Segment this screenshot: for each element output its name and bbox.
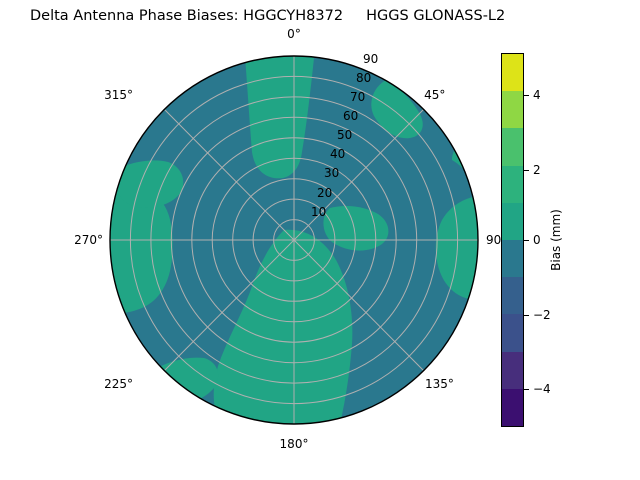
radial-label-10: 10: [311, 205, 326, 219]
radial-label-70: 70: [350, 90, 365, 104]
figure-canvas: Delta Antenna Phase Biases: HGGCYH8372 H…: [0, 0, 640, 480]
angle-label-225: 225°: [104, 377, 133, 391]
colorbar-band-4: [502, 240, 523, 277]
colorbar-band-3: [502, 277, 523, 314]
colorbar-band-5: [502, 203, 523, 240]
colorbar-tick-mark-neg4: [524, 389, 529, 390]
colorbar-tick-mark-4: [524, 95, 529, 96]
radial-label-50: 50: [337, 128, 352, 142]
colorbar-band-6: [502, 166, 523, 203]
radial-label-40: 40: [330, 147, 345, 161]
colorbar[interactable]: 4 2 0 −2 −4: [501, 53, 524, 427]
colorbar-tick-label-neg2: −2: [533, 308, 551, 322]
angle-label-135: 135°: [425, 377, 454, 391]
angle-label-0: 0°: [287, 27, 301, 41]
colorbar-band-9: [502, 54, 523, 91]
colorbar-tick-mark-0: [524, 240, 529, 241]
angle-label-180: 180°: [280, 437, 309, 451]
colorbar-tick-label-4: 4: [533, 88, 541, 102]
radial-label-60: 60: [343, 109, 358, 123]
angle-label-90: 90: [486, 233, 501, 247]
angle-label-270: 270°: [74, 233, 103, 247]
colorbar-band-1: [502, 352, 523, 389]
radial-label-80: 80: [356, 71, 371, 85]
colorbar-band-2: [502, 314, 523, 351]
colorbar-band-8: [502, 91, 523, 128]
angle-label-315: 315°: [104, 88, 133, 102]
colorbar-axis-label: Bias (mm): [549, 209, 563, 271]
radial-label-30: 30: [324, 166, 339, 180]
radial-label-90: 90: [363, 52, 378, 66]
radial-label-20: 20: [317, 186, 332, 200]
colorbar-tick-label-0: 0: [533, 233, 541, 247]
colorbar-band-7: [502, 128, 523, 165]
colorbar-tick-mark-2: [524, 170, 529, 171]
colorbar-tick-label-2: 2: [533, 163, 541, 177]
colorbar-tick-label-neg4: −4: [533, 382, 551, 396]
angle-label-45: 45°: [424, 88, 445, 102]
colorbar-tick-mark-neg2: [524, 315, 529, 316]
colorbar-band-0: [502, 389, 523, 426]
colorbar-gradient: [501, 53, 524, 427]
